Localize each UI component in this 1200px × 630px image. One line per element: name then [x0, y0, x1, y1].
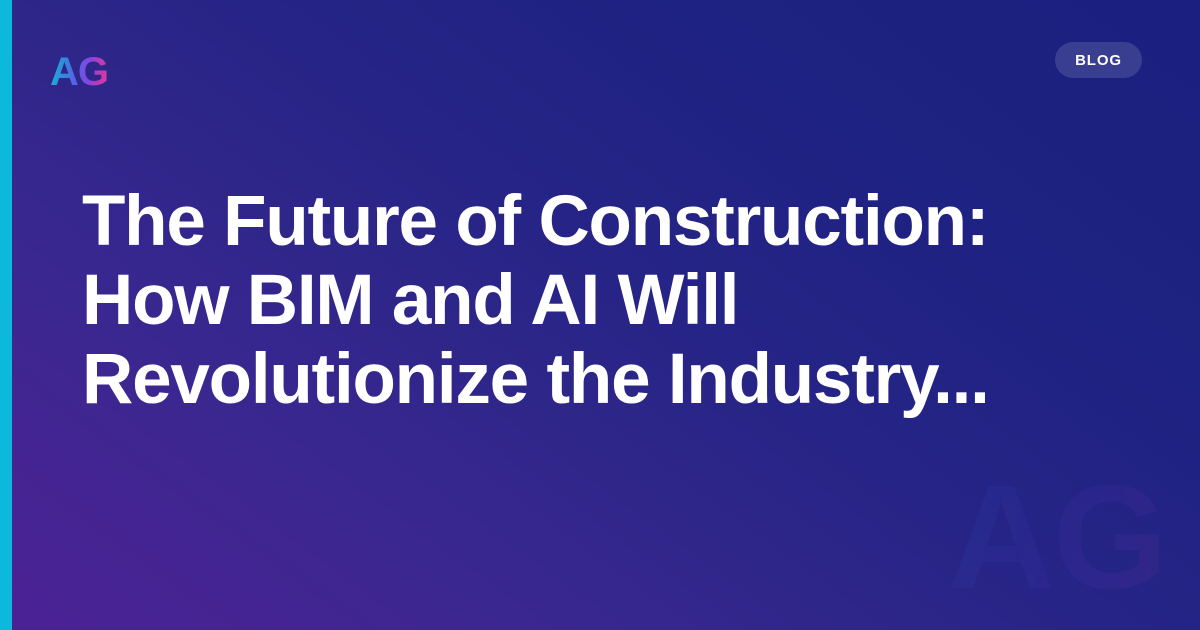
page-title: The Future of Construction: How BIM and …: [82, 182, 1082, 419]
blog-share-card: AG AG BLOG The Future of Construction: H…: [0, 0, 1200, 630]
headline-container: The Future of Construction: How BIM and …: [82, 182, 1082, 419]
blog-badge-label: BLOG: [1075, 53, 1122, 68]
left-accent-stripe: [0, 0, 12, 630]
ag-logo[interactable]: AG: [50, 52, 108, 92]
card-header: AG BLOG: [0, 0, 1200, 120]
ag-watermark: AG: [948, 464, 1166, 612]
blog-badge[interactable]: BLOG: [1055, 42, 1142, 78]
